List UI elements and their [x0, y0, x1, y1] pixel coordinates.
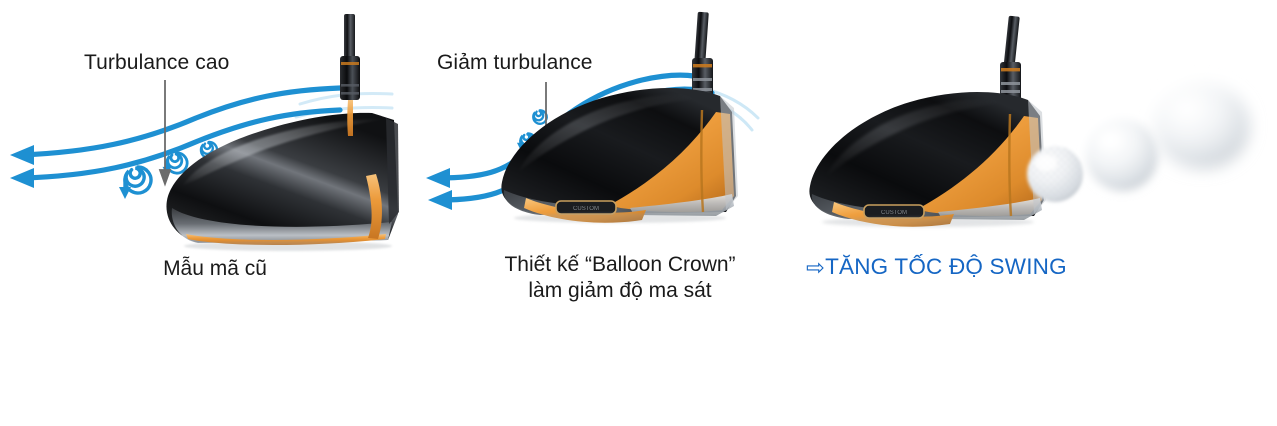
swing-speed-illustration: CUSTOM	[790, 0, 1277, 426]
caption-line-2: làm giảm độ ma sát	[420, 278, 820, 304]
result-swing-speed-label: TĂNG TỐC ĐỘ SWING	[825, 254, 1067, 279]
right-block-arrow-icon: ⇨	[806, 255, 825, 281]
golf-ball-2	[1086, 119, 1158, 191]
hosel-orange-trace	[347, 100, 353, 136]
infographic-canvas: Turbulance cao	[0, 0, 1277, 426]
panel-swing-speed: CUSTOM ⇨TĂNG TỐC ĐỘ SWING	[790, 0, 1277, 426]
result-swing-speed: ⇨TĂNG TỐC ĐỘ SWING	[806, 254, 1067, 280]
airflow-arrowheads	[426, 168, 452, 210]
panel-balloon-crown: Giảm turbulance	[420, 0, 820, 426]
club-shadow	[822, 217, 1034, 227]
club-shadow	[184, 241, 392, 251]
svg-text:CUSTOM: CUSTOM	[881, 210, 907, 216]
balloon-crown-illustration: CUSTOM	[420, 0, 820, 426]
old-model-illustration	[0, 0, 430, 426]
golf-ball-1	[1027, 146, 1083, 202]
caption-old-model: Mẫu mã cũ	[0, 256, 430, 281]
club-shaft	[344, 14, 355, 62]
golf-ball-3	[1154, 83, 1250, 169]
airflow-arrowheads	[10, 145, 34, 188]
panel-old-model: Turbulance cao	[0, 0, 430, 426]
caption-line-1: Thiết kế “Balloon Crown”	[420, 252, 820, 278]
svg-text:CUSTOM: CUSTOM	[573, 206, 599, 212]
club-shadow	[514, 213, 726, 223]
caption-balloon-crown: Thiết kế “Balloon Crown” làm giảm độ ma …	[420, 252, 820, 304]
club-shaft	[694, 12, 709, 65]
